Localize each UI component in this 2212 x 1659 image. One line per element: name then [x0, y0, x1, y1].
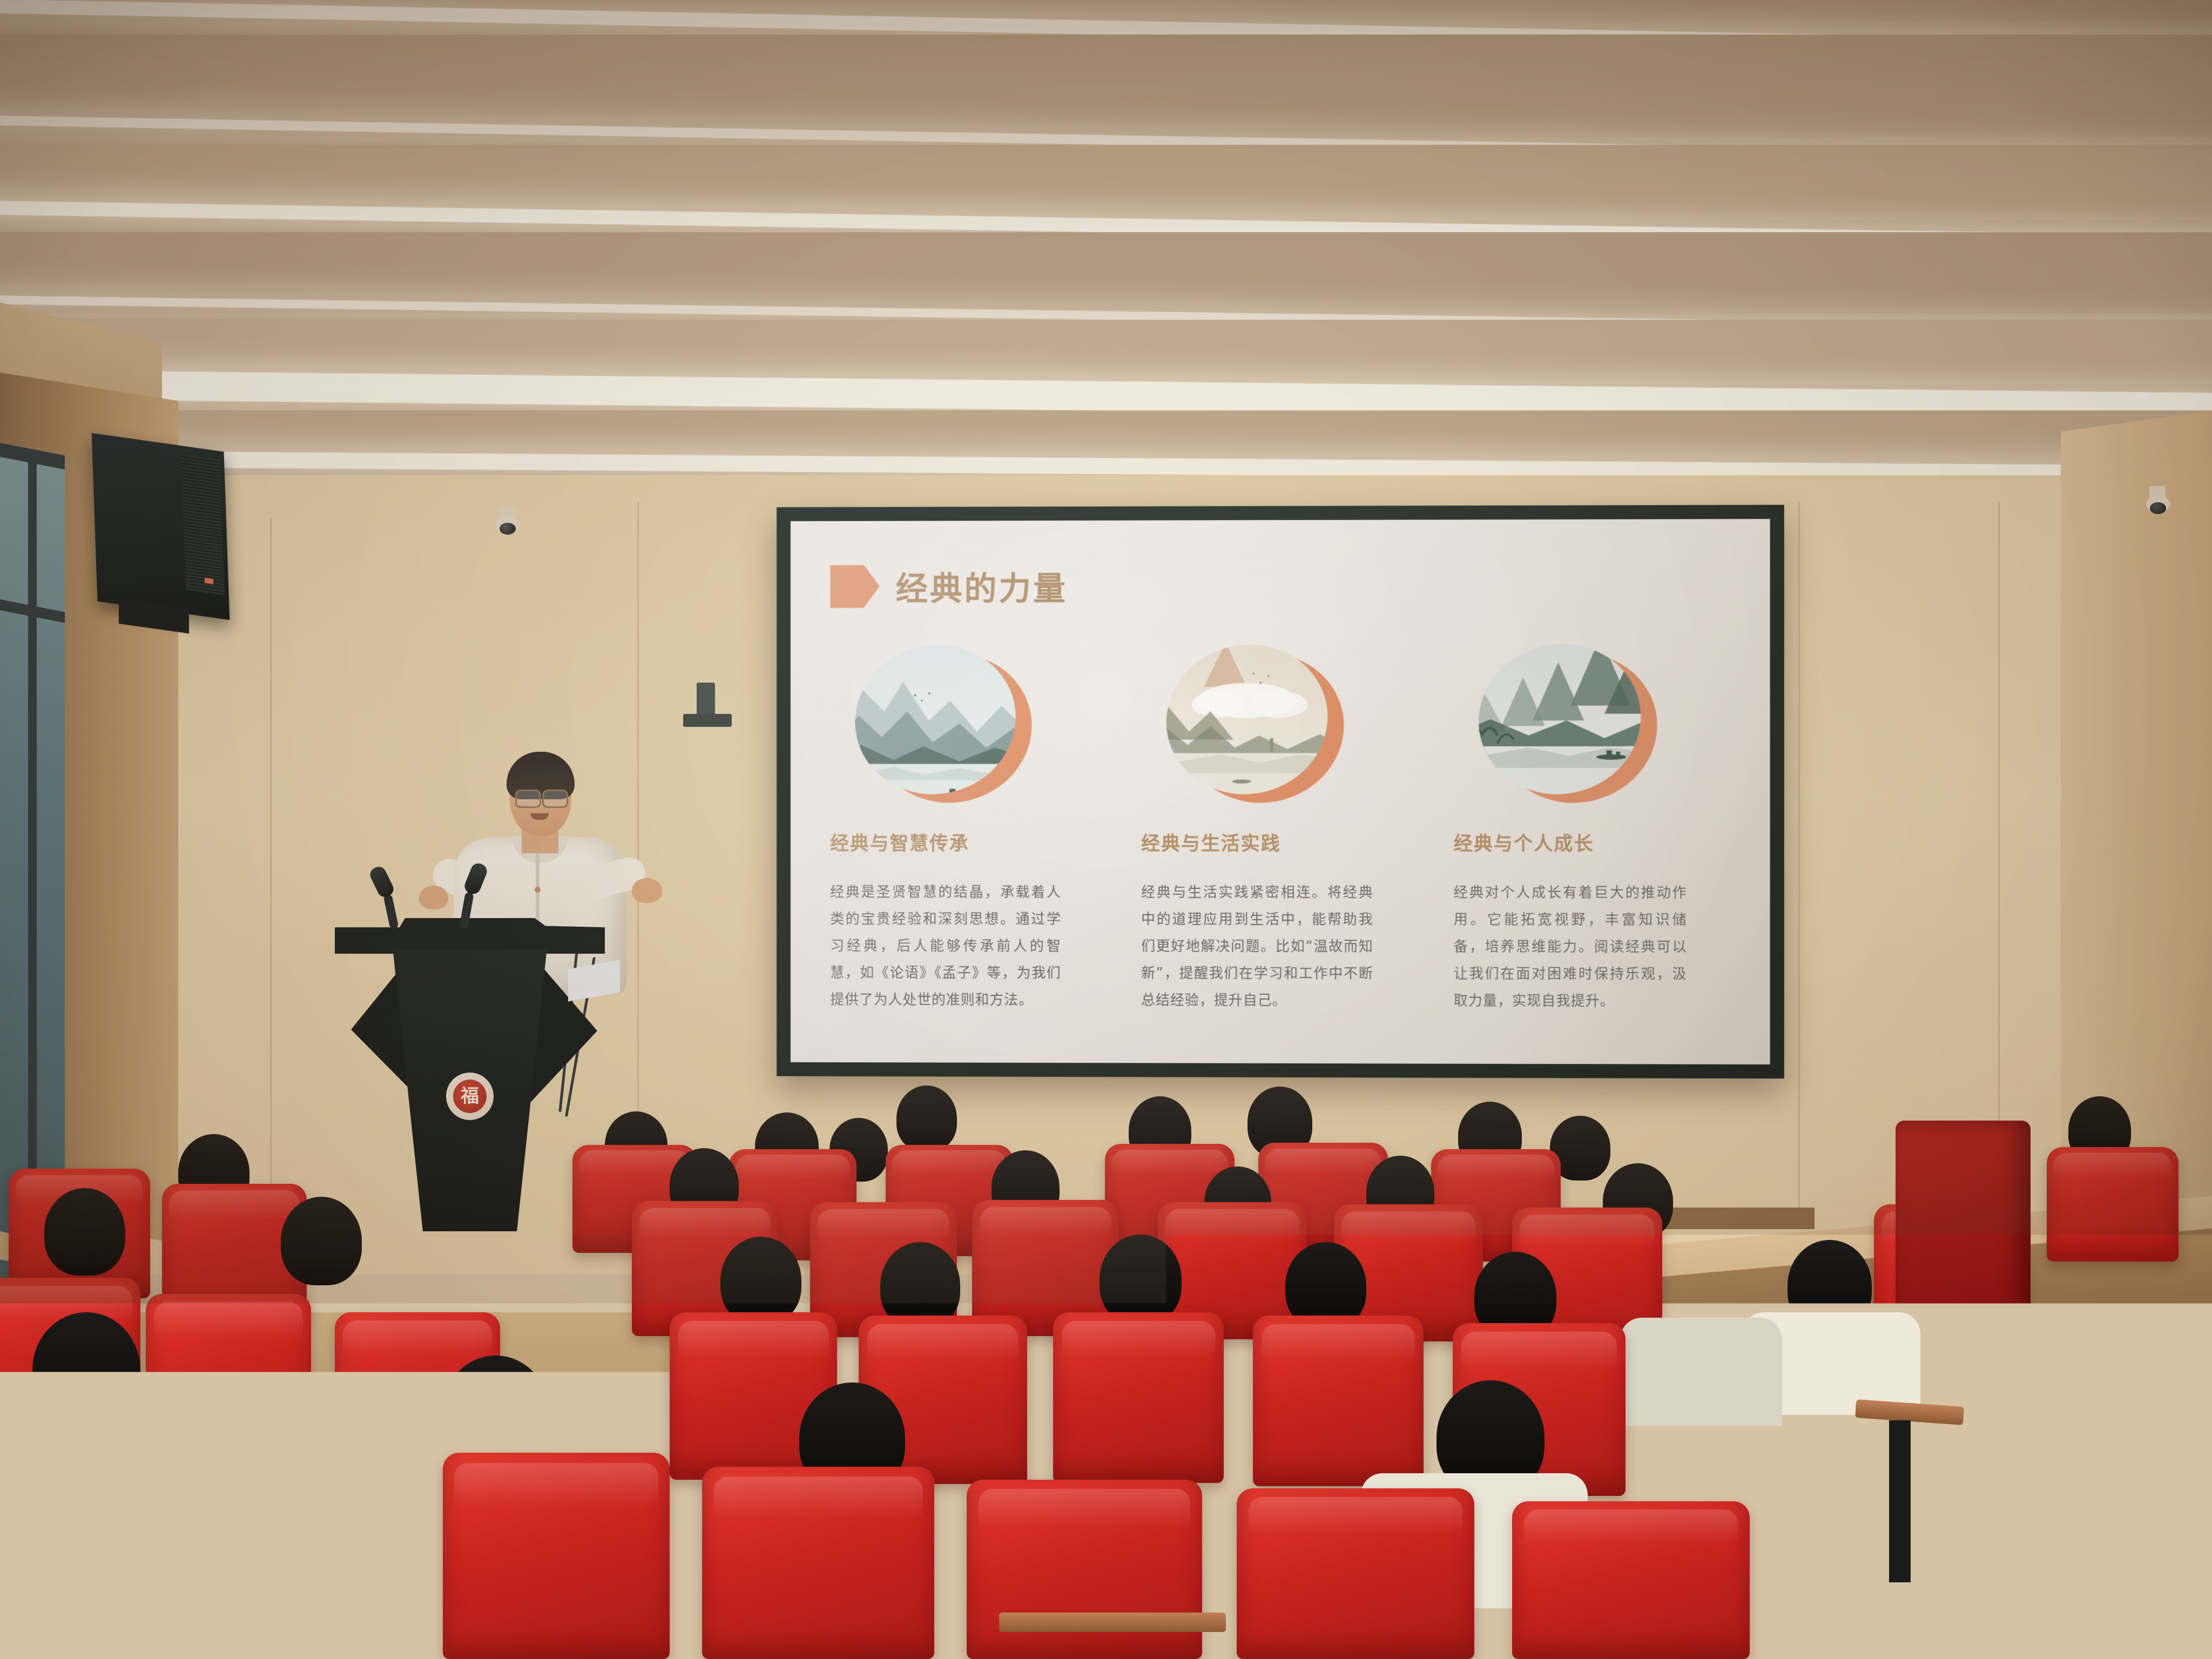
ceiling: [0, 0, 2212, 518]
dome-camera-icon: [496, 516, 520, 532]
column-body: 经典对个人成长有着巨大的推动作用。它能拓宽视野，丰富知识储备，培养思维能力。阅读…: [1454, 880, 1687, 1015]
projection-screen: 经典的力量: [791, 519, 1770, 1064]
audience-seat: [178, 1431, 396, 1659]
audience-seat: [1512, 1501, 1750, 1659]
slide-title: 经典的力量: [895, 563, 1067, 610]
audience-head: [44, 1188, 125, 1276]
slide-column: 经典与生活实践 经典与生活实践紧密相连。将经典中的道理应用到生活中，能帮助我们更…: [1141, 645, 1414, 1015]
column-heading: 经典与个人成长: [1454, 828, 1728, 856]
audience-seat: [1955, 1334, 2133, 1512]
audience-seat: [1253, 1316, 1424, 1486]
seat-armrest: [999, 1613, 1226, 1632]
emblem-character: 福: [453, 1080, 487, 1113]
audience-seat: [702, 1467, 934, 1659]
presentation-slide: 经典的力量: [791, 519, 1770, 1064]
slide-columns: 经典与智慧传承 经典是圣贤智慧的结晶，承载着人类的宝贵经验和深刻思想。通过学习经…: [830, 644, 1728, 1015]
audience-head: [720, 1237, 801, 1324]
audience-head: [32, 1312, 140, 1428]
podium: 福: [335, 918, 605, 1231]
column-heading: 经典与生活实践: [1141, 828, 1414, 856]
column-body: 经典是圣贤智慧的结晶，承载着人类的宝贵经验和深刻思想。通过学习经典，后人能够传承…: [830, 879, 1061, 1014]
projection-screen-frame: 经典的力量: [777, 505, 1784, 1079]
landscape-image-2: [1162, 645, 1352, 807]
audience-seat: [443, 1453, 670, 1659]
audience-head: [896, 1085, 957, 1151]
seat-leg: [1889, 1420, 1911, 1582]
audience-head: [443, 1355, 549, 1467]
audience-seat: [967, 1480, 1202, 1659]
auditorium-photo: 经典的力量: [0, 0, 2212, 1659]
podium-emblem: 福: [446, 1073, 494, 1120]
landscape-image-1: [851, 645, 1040, 807]
audience-shoulders: [1620, 1318, 1782, 1426]
column-heading: 经典与智慧传承: [830, 828, 1101, 856]
small-wall-speaker-base: [683, 714, 732, 727]
dome-camera-icon: [2146, 496, 2170, 512]
draped-chairs: [1896, 1121, 2031, 1347]
eyeglasses-icon: [542, 790, 568, 808]
wall-speaker-icon: [92, 433, 230, 620]
seat-armrest: [157, 1582, 427, 1604]
title-arrow-tag: [830, 565, 879, 608]
seat-armrest: [464, 1591, 718, 1611]
audience-seat: [0, 1415, 173, 1659]
eyeglasses-icon: [515, 790, 541, 808]
small-wall-speaker-icon: [697, 683, 715, 716]
presenter-hand-right: [632, 878, 662, 903]
slide-column: 经典与智慧传承 经典是圣贤智慧的结晶，承载着人类的宝贵经验和深刻思想。通过学习经…: [830, 645, 1101, 1014]
audience-head: [1100, 1235, 1182, 1324]
landscape-image-3: [1474, 644, 1665, 807]
seat-leg: [2074, 1447, 2096, 1609]
audience-head: [281, 1197, 362, 1285]
audience-seat: [1237, 1488, 1474, 1659]
presenter-hand-left: [419, 886, 448, 909]
column-body: 经典与生活实践紧密相连。将经典中的道理应用到生活中，能帮助我们更好地解决问题。比…: [1141, 880, 1373, 1015]
slide-column: 经典与个人成长 经典对个人成长有着巨大的推动作用。它能拓宽视野，丰富知识储备，培…: [1454, 644, 1728, 1015]
audience-seat: [1053, 1312, 1224, 1483]
audience-seat: [2047, 1147, 2179, 1262]
